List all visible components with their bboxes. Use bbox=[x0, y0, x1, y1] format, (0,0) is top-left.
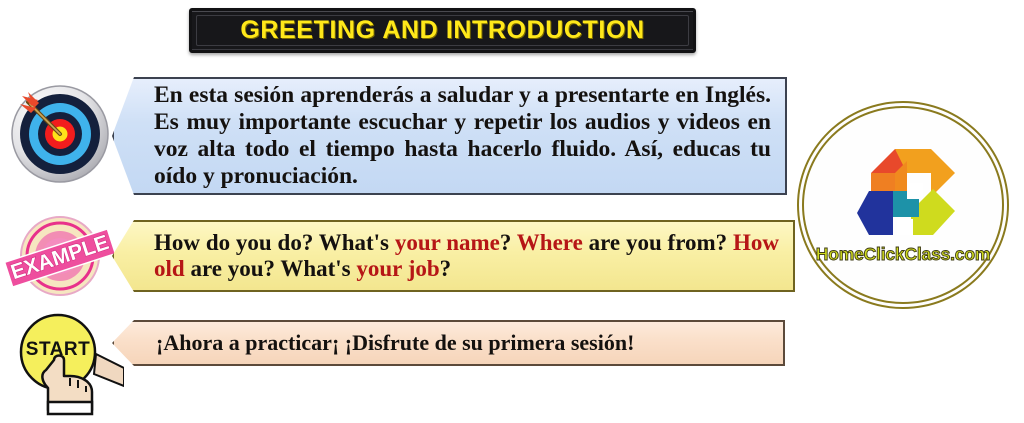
highlighted-phrase: your name bbox=[395, 230, 500, 255]
example-callout: How do you do? What's your name? Where a… bbox=[112, 220, 795, 292]
highlighted-phrase: your job bbox=[356, 256, 439, 281]
page-title: GREETING AND INTRODUCTION bbox=[240, 16, 644, 45]
page-title-banner: GREETING AND INTRODUCTION bbox=[189, 8, 696, 53]
plain-phrase: ? bbox=[440, 256, 452, 281]
practice-callout-body: ¡Ahora a practicar¡ ¡Disfrute de su prim… bbox=[114, 322, 783, 364]
practice-text: ¡Ahora a practicar¡ ¡Disfrute de su prim… bbox=[156, 331, 769, 355]
slide-canvas: GREETING AND INTRODUCTION bbox=[0, 0, 1024, 420]
brand-logo[interactable]: HomeClickClass.com bbox=[797, 101, 1009, 309]
logo-mark-icon bbox=[841, 139, 963, 247]
objective-callout: En esta sesión aprenderás a saludar y a … bbox=[112, 77, 787, 195]
logo-wordmark: HomeClickClass.com bbox=[797, 244, 1009, 265]
dartboard-icon bbox=[8, 82, 112, 186]
plain-phrase: ? bbox=[500, 230, 517, 255]
objective-text: En esta sesión aprenderás a saludar y a … bbox=[154, 82, 771, 190]
highlighted-phrase: Where bbox=[517, 230, 583, 255]
example-text: How do you do? What's your name? Where a… bbox=[154, 230, 779, 282]
plain-phrase: are you? What's bbox=[185, 256, 357, 281]
start-button-label: START bbox=[8, 339, 108, 361]
example-callout-body: How do you do? What's your name? Where a… bbox=[114, 222, 793, 290]
plain-phrase: How do you do? What's bbox=[154, 230, 395, 255]
example-stamp-icon: EXAMPLE bbox=[4, 214, 116, 298]
plain-phrase: are you from? bbox=[583, 230, 733, 255]
objective-callout-body: En esta sesión aprenderás a saludar y a … bbox=[114, 79, 785, 193]
start-button-icon[interactable]: START bbox=[8, 312, 124, 418]
practice-callout: ¡Ahora a practicar¡ ¡Disfrute de su prim… bbox=[112, 320, 785, 366]
